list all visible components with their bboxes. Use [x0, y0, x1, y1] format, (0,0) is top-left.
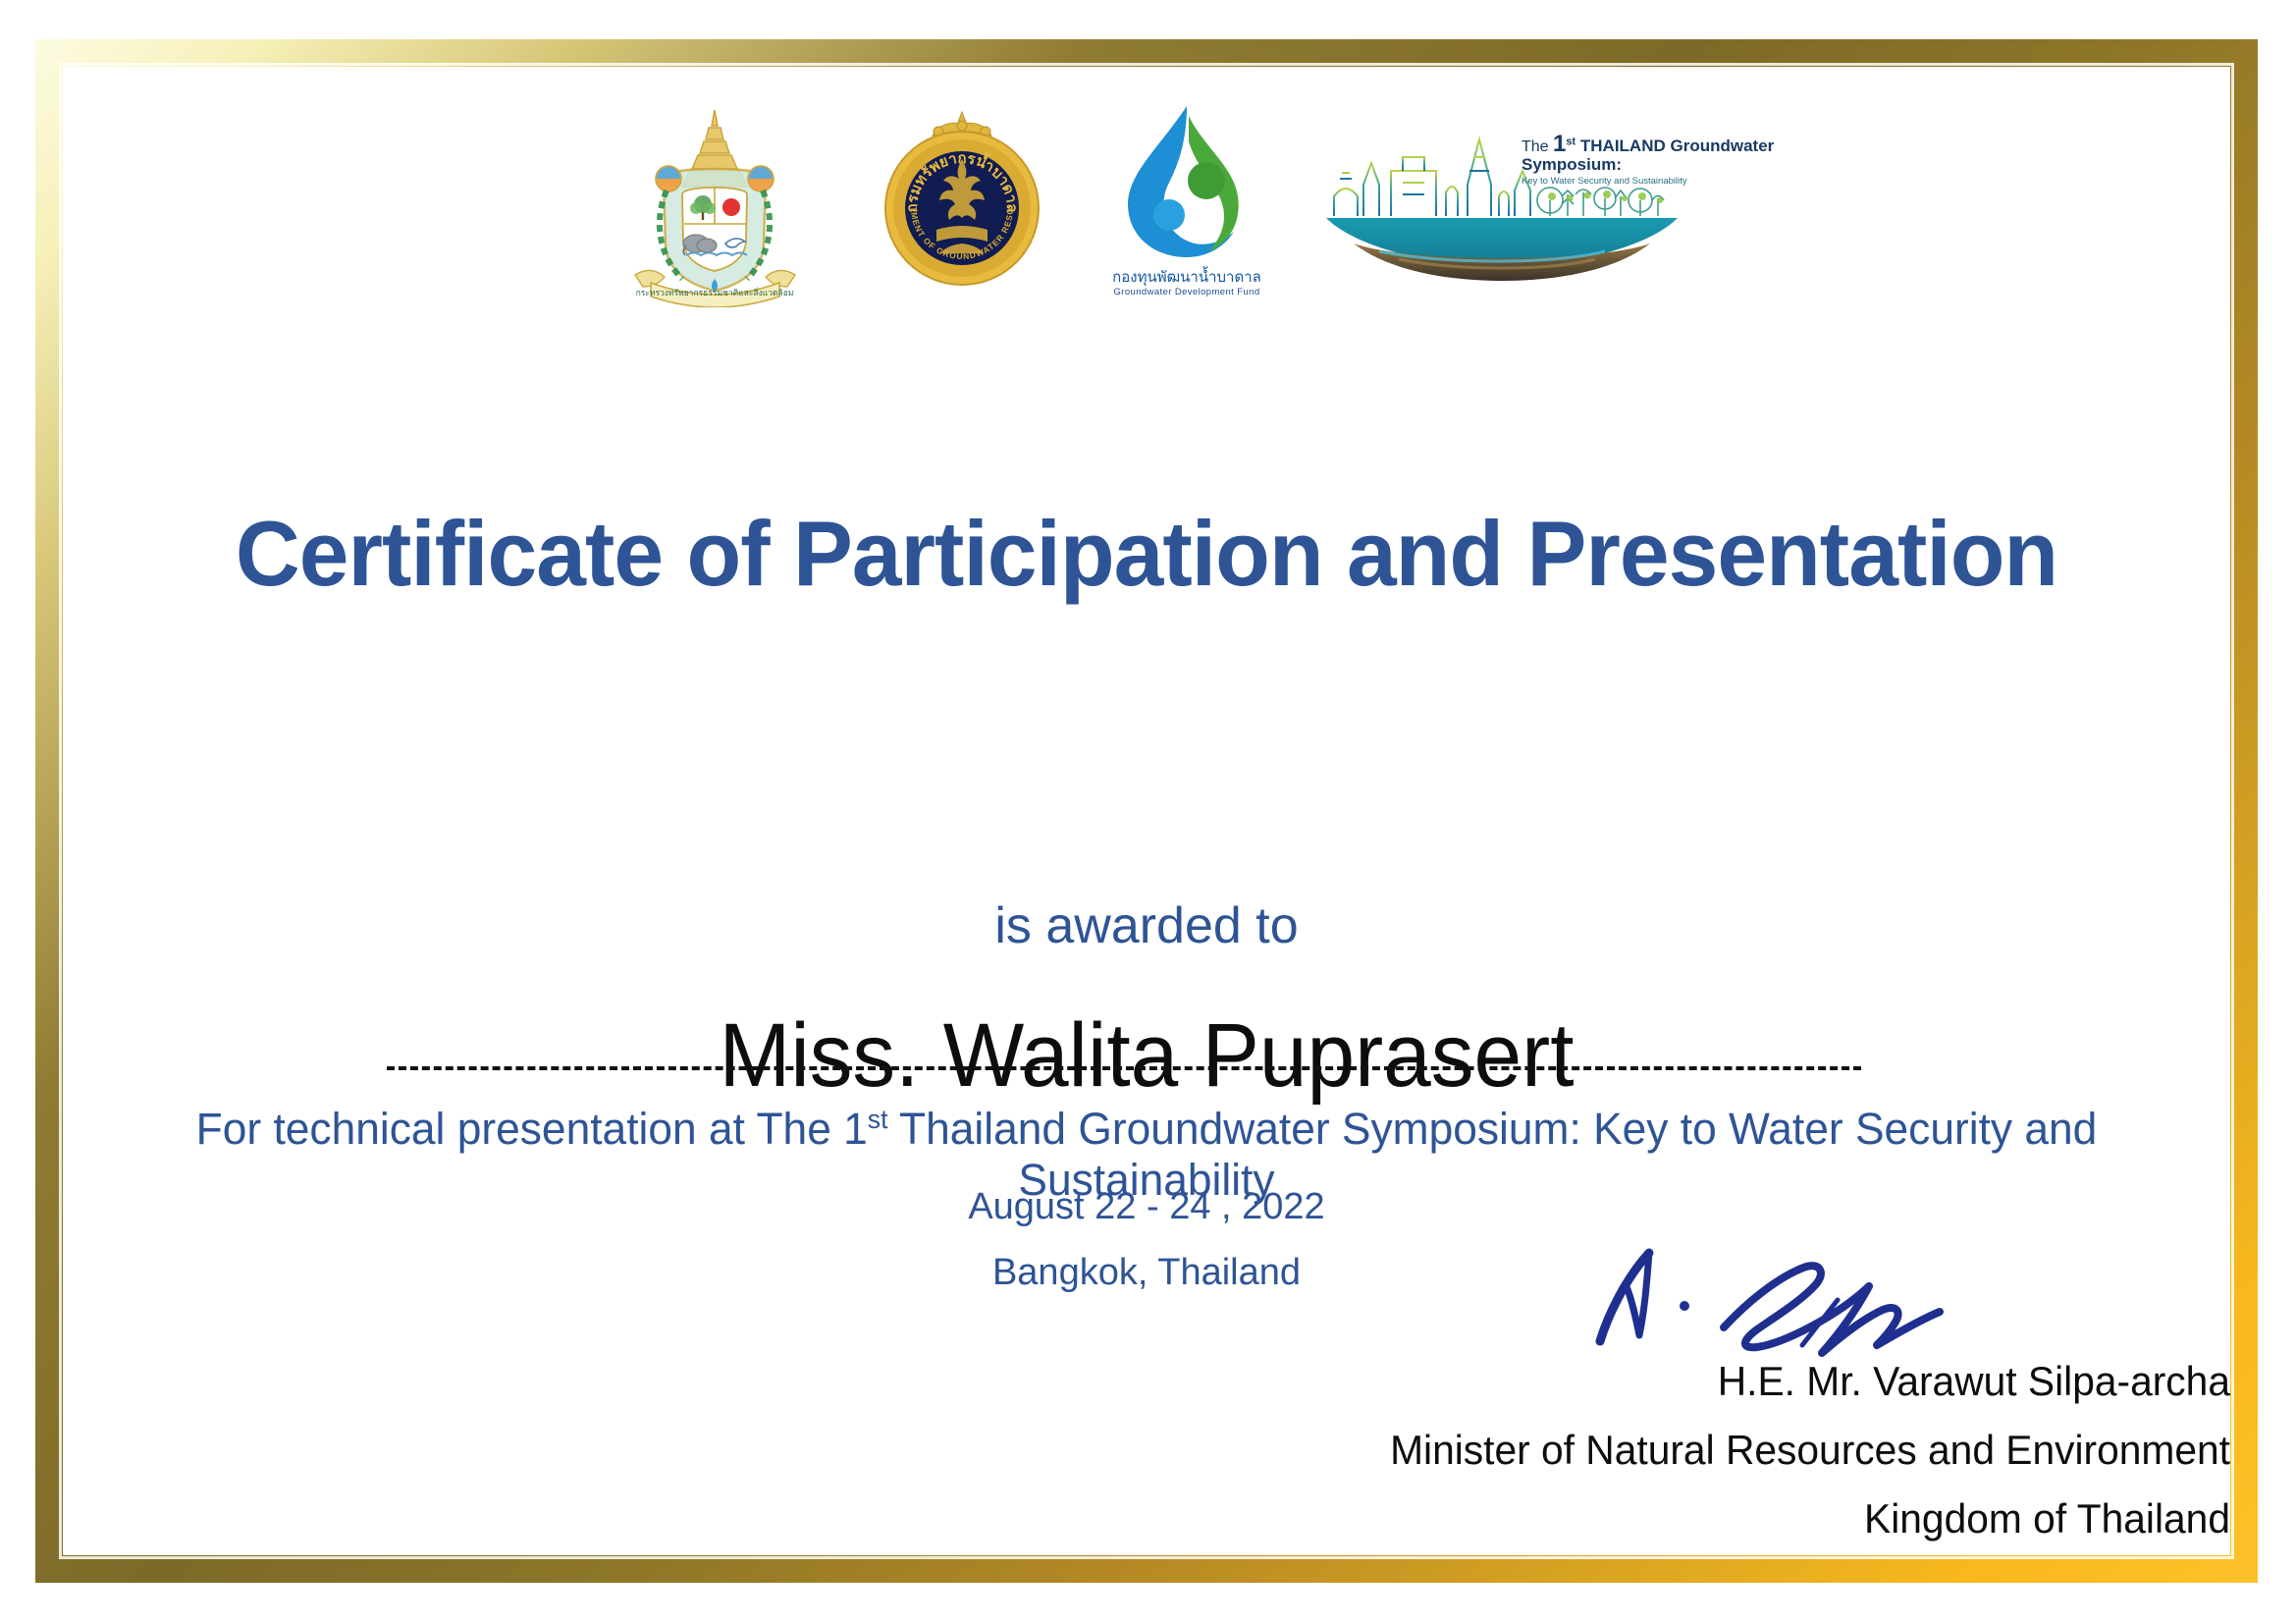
- department-of-groundwater-resources-seal-icon: กรมทรัพยากรน้ำบาดาล DEPARTMENT OF GROUND…: [872, 102, 1053, 298]
- certificate-page: กระทรวงทรัพยากรธรรมชาติและสิ่งแวดล้อม: [0, 0, 2296, 1624]
- fund-logo-english-caption: Groundwater Development Fund: [1104, 287, 1269, 298]
- thailand-groundwater-symposium-logo-icon: The 1st THAILAND Groundwater Symposium: …: [1320, 114, 1683, 281]
- logo-row: กระทรวงทรัพยากรธรรมชาติและสิ่งแวดล้อม: [63, 96, 2230, 322]
- symposium-subtitle: Symposium:: [1522, 156, 1693, 174]
- signatory-name: H.E. Mr. Varawut Silpa-archa: [707, 1361, 2230, 1402]
- symposium-the-label: The: [1522, 138, 1553, 155]
- signature-image: [1575, 1225, 2163, 1373]
- svg-text:กระทรวงทรัพยากรธรรมชาติและสิ่ง: กระทรวงทรัพยากรธรรมชาติและสิ่งแวดล้อม: [636, 287, 794, 298]
- event-description-prefix: For technical presentation at The 1: [196, 1104, 868, 1154]
- certificate-title: Certificate of Participation and Present…: [95, 501, 2198, 607]
- recipient-name: Miss. Walita Puprasert: [117, 1004, 2176, 1108]
- certificate-content: กระทรวงทรัพยากรธรรมชาติและสิ่งแวดล้อม: [63, 67, 2230, 1555]
- symposium-title-rest: THAILAND Groundwater: [1575, 136, 1774, 155]
- signatory-title: Minister of Natural Resources and Enviro…: [707, 1430, 2230, 1471]
- event-date: August 22 - 24 , 2022: [63, 1186, 2230, 1228]
- groundwater-development-fund-logo-icon: กองทุนพัฒนาน้ำบาดาล Groundwater Developm…: [1104, 102, 1269, 303]
- symposium-ordinal-number: 1: [1553, 131, 1566, 157]
- signatory-block: H.E. Mr. Varawut Silpa-archa Minister of…: [660, 1361, 2230, 1540]
- awarded-to-label: is awarded to: [63, 896, 2230, 955]
- symposium-logo-text: The 1st THAILAND Groundwater Symposium: …: [1522, 132, 1693, 187]
- symposium-ordinal-suffix: st: [1566, 135, 1575, 147]
- symposium-tagline: Key to Water Security and Sustainability: [1522, 176, 1693, 187]
- fund-logo-thai-caption: กองทุนพัฒนาน้ำบาดาล: [1104, 269, 1269, 286]
- signatory-country: Kingdom of Thailand: [707, 1498, 2230, 1540]
- recipient-name-dashed-rule: [387, 1066, 1861, 1070]
- ministry-of-natural-resources-emblem-icon: กระทรวงทรัพยากรธรรมชาติและสิ่งแวดล้อม: [610, 96, 821, 307]
- event-description-ordinal-suffix: st: [868, 1105, 888, 1134]
